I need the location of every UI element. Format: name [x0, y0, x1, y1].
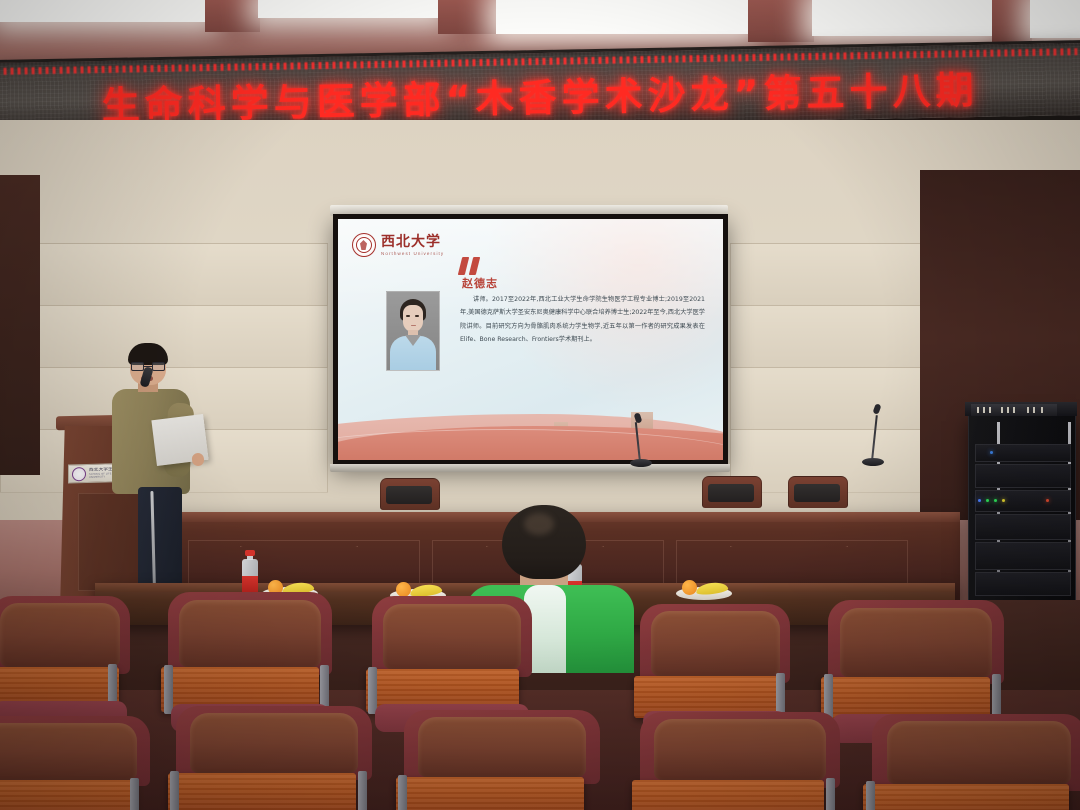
side-wall-dark: [0, 175, 40, 475]
fruit-plate: [676, 578, 732, 600]
tablet-bracket: [826, 778, 835, 810]
seat-writing-tablet: [863, 784, 1068, 810]
seat-back-pad: [0, 723, 137, 780]
ceiling-beam: [748, 0, 814, 42]
seat-back-pad: [190, 713, 359, 773]
auditorium-seat: [640, 604, 790, 728]
wall-panel: [0, 243, 328, 307]
ceiling-light-panel: [812, 0, 994, 36]
auditorium-seat: [168, 592, 332, 722]
tablet-bracket: [358, 771, 367, 810]
portrait-face: [403, 305, 423, 332]
seat-back-pad: [383, 604, 521, 670]
tablet-bracket: [164, 665, 173, 714]
seat-back-pad: [840, 608, 991, 677]
tablet-bracket: [130, 778, 139, 810]
university-name-en: Northwest University: [381, 251, 444, 256]
auditorium-seat: [640, 712, 840, 810]
auditorium-seat: [0, 596, 130, 718]
auditorium-seat: [372, 596, 532, 722]
chair-pad: [708, 484, 754, 502]
bottle-label: [242, 576, 258, 592]
seat-back-pad: [651, 611, 780, 675]
stage-chair: [700, 476, 762, 520]
seat-back-pad: [418, 717, 587, 777]
status-led: [1002, 499, 1005, 502]
quotation-mark-icon: [460, 257, 486, 275]
portrait-eye: [406, 315, 410, 317]
bottle-cap: [245, 550, 255, 556]
auditorium-seat: [0, 716, 150, 810]
status-led: [990, 451, 993, 454]
auditorium-seat: [872, 714, 1080, 810]
orange-fruit: [396, 582, 411, 597]
tablet-bracket: [398, 775, 407, 810]
presenter-person: [108, 345, 194, 613]
projection-screen: 西北大学 Northwest University 赵德志 讲师。2017至20…: [333, 214, 728, 465]
seat-writing-tablet: [168, 773, 356, 810]
status-led: [978, 499, 981, 502]
chair-pad: [386, 486, 432, 504]
presentation-slide: 西北大学 Northwest University 赵德志 讲师。2017至20…: [338, 219, 723, 460]
plaque-seal-icon: [72, 467, 86, 481]
university-seal-icon: [352, 233, 376, 257]
seat-back-pad: [179, 600, 320, 668]
auditorium-seat: [828, 600, 1004, 732]
rack-unit: [975, 444, 1071, 462]
seat-writing-tablet: [396, 777, 584, 810]
rack-unit: [975, 490, 1071, 512]
audience-hair-highlight: [524, 513, 554, 535]
university-logo: 西北大学 Northwest University: [352, 233, 444, 257]
mic-stem: [871, 415, 878, 461]
rack-unit: [975, 464, 1071, 488]
mic-base: [862, 458, 884, 466]
water-bottle: [242, 551, 258, 597]
seat-back-pad: [887, 721, 1071, 783]
rack-unit: [975, 572, 1071, 596]
rack-unit: [975, 542, 1071, 570]
ceiling-beam: [992, 0, 1032, 42]
orange-fruit: [682, 580, 697, 595]
slide-bio-text: 讲师。2017至2022年,西北工业大学生命学院生物医学工程专业博士;2019至…: [460, 293, 705, 346]
portrait-eye: [415, 315, 419, 317]
table-microphone: [630, 415, 652, 467]
status-led: [994, 499, 997, 502]
auditorium-seat: [176, 706, 372, 810]
seat-back-pad: [0, 603, 120, 666]
mic-stem: [635, 422, 641, 462]
chair-pad: [794, 484, 840, 502]
speaker-portrait: [386, 291, 440, 371]
wall-panel: [730, 243, 932, 307]
stage-chair: [378, 478, 440, 522]
wall-panel: [730, 305, 932, 369]
ceiling-light-panel: [496, 0, 750, 34]
seat-writing-tablet: [632, 780, 824, 810]
ceiling-beam: [205, 0, 260, 32]
table-microphone: [862, 408, 884, 466]
ceiling-light-panel: [1030, 0, 1080, 38]
status-led: [986, 499, 989, 502]
av-equipment-rack: [968, 413, 1076, 605]
mic-base: [630, 459, 652, 467]
status-led: [1046, 499, 1049, 502]
lecture-hall-photo: 生命科学与医学部“木香学术沙龙”第五十八期 西北大学 Northwest Uni…: [0, 0, 1080, 810]
screen-bottom-bar: [330, 464, 730, 472]
rack-unit: [975, 514, 1071, 540]
stage-chair: [786, 476, 848, 520]
ceiling-light-panel: [258, 0, 440, 18]
slide-decoration-landscape: [338, 386, 723, 460]
seat-back-pad: [654, 719, 826, 780]
university-name: 西北大学: [381, 235, 444, 249]
seat-writing-tablet: [0, 780, 136, 810]
auditorium-seat: [404, 710, 600, 810]
ceiling-beam: [438, 0, 498, 34]
tablet-bracket: [170, 771, 179, 810]
wall-panel: [730, 367, 932, 431]
tablet-bracket: [866, 781, 875, 810]
audio-mixer: [971, 404, 1057, 416]
ceiling-light-panel: [0, 0, 210, 22]
slide-speaker-name: 赵德志: [462, 275, 498, 291]
